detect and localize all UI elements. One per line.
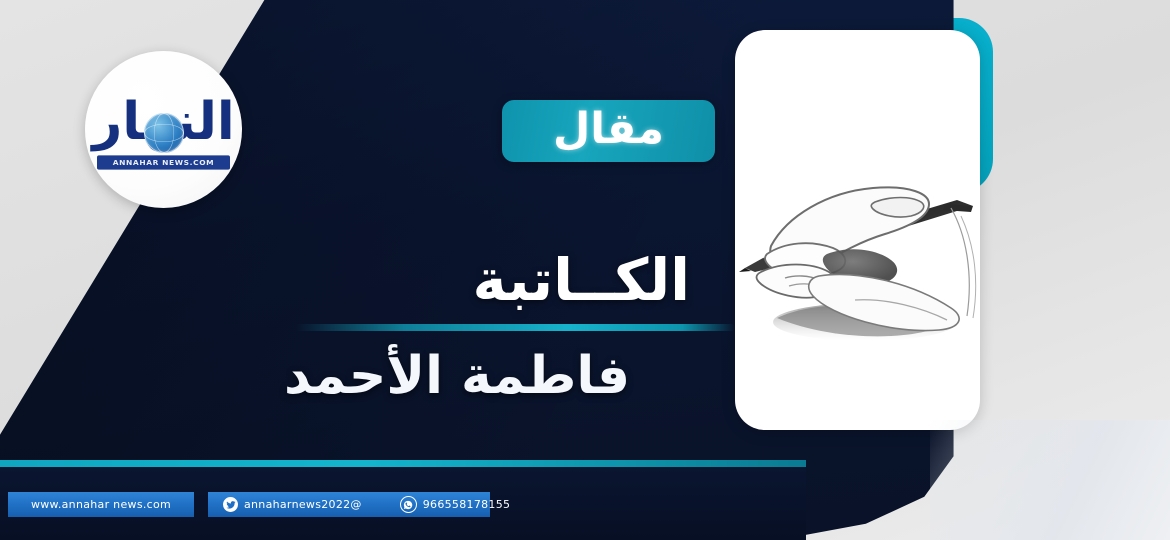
article-kind-label: مقال bbox=[553, 108, 664, 151]
globe-icon bbox=[144, 113, 184, 153]
article-kind-badge: مقال bbox=[502, 100, 715, 162]
website-url: www.annahar news.com bbox=[31, 498, 171, 511]
twitter-handle: annaharnews2022@ bbox=[244, 498, 362, 511]
article-banner: النهار ANNAHAR NEWS.COM مقال الكــاتبة ف… bbox=[0, 0, 1170, 540]
social-pill: annaharnews2022@ 966558178155 bbox=[208, 492, 490, 517]
whatsapp-link[interactable]: 966558178155 bbox=[400, 496, 511, 513]
author-name: فاطمة الأحمد bbox=[284, 348, 630, 405]
globe-parallel bbox=[144, 124, 184, 142]
author-role-label: الكــاتبة bbox=[473, 250, 690, 311]
annahar-logo-badge[interactable]: النهار ANNAHAR NEWS.COM bbox=[85, 51, 242, 208]
whatsapp-icon bbox=[400, 496, 417, 513]
role-underline bbox=[295, 324, 735, 331]
whatsapp-number: 966558178155 bbox=[423, 498, 511, 511]
illustration-card bbox=[735, 30, 980, 430]
hand-writing-with-pen-sketch bbox=[735, 150, 980, 390]
twitter-icon bbox=[223, 497, 238, 512]
twitter-link[interactable]: annaharnews2022@ bbox=[223, 497, 362, 512]
footer-divider bbox=[0, 460, 806, 467]
logo-tagline: ANNAHAR NEWS.COM bbox=[97, 155, 231, 169]
website-pill[interactable]: www.annahar news.com bbox=[8, 492, 194, 517]
